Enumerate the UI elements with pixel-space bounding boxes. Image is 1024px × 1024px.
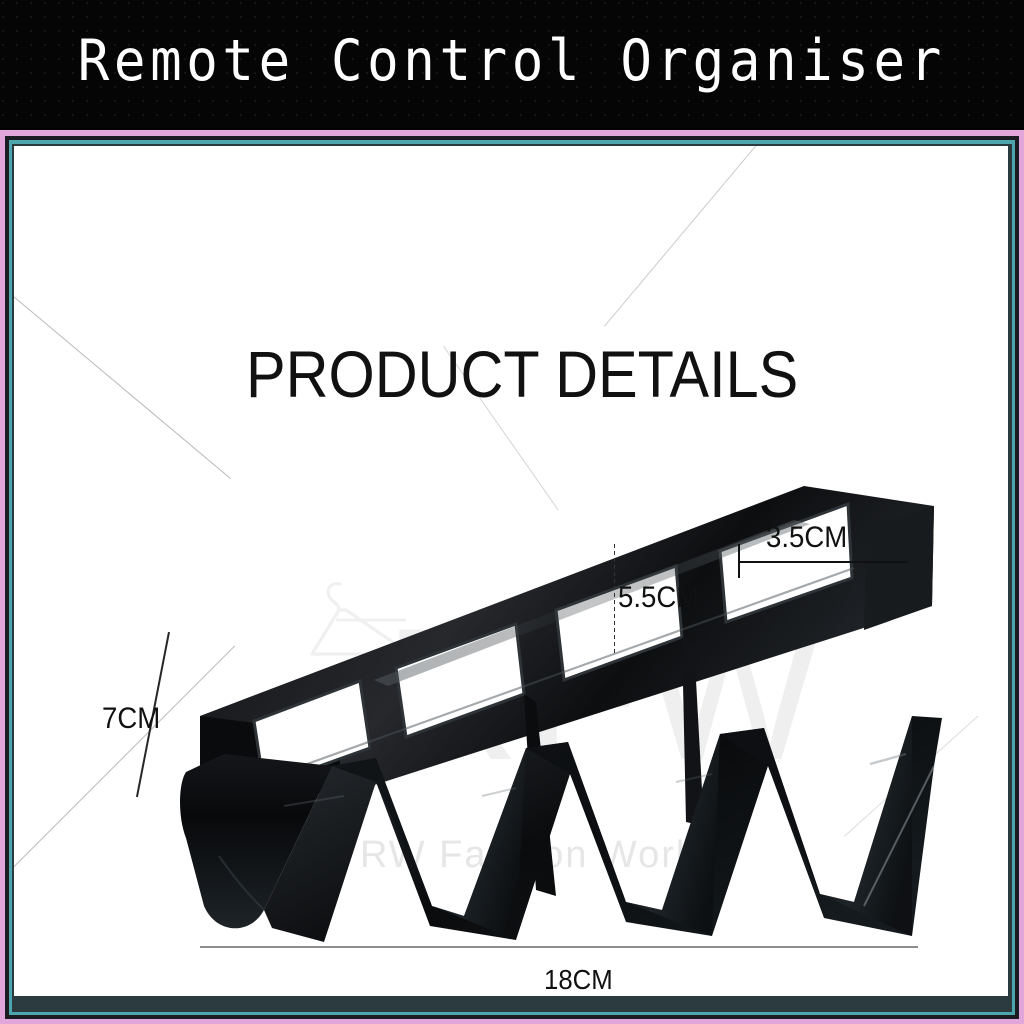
dimension-label-height: 7CM xyxy=(102,702,160,736)
page-title: Remote Control Organiser xyxy=(78,33,946,96)
dimension-label-slot-width: 3.5CM xyxy=(766,521,847,555)
guide-line-top-left xyxy=(14,266,231,479)
measure-line-total-width xyxy=(200,946,918,948)
dimension-label-total-width: 18CM xyxy=(544,964,613,996)
measure-line-slot-width xyxy=(738,561,908,563)
measure-line-slot-height xyxy=(614,544,615,654)
measure-line-slot-width-cap xyxy=(738,544,740,578)
content-canvas: RFW RW Fashion World xyxy=(14,146,1008,996)
header-banner: Remote Control Organiser xyxy=(0,0,1024,128)
product-listing-image: Remote Control Organiser RFW RW Fashion … xyxy=(0,0,1024,1024)
guide-line-top-right xyxy=(604,146,759,327)
dimension-label-slot-height: 5.5CM xyxy=(618,581,699,615)
section-heading: PRODUCT DETAILS xyxy=(246,336,798,412)
